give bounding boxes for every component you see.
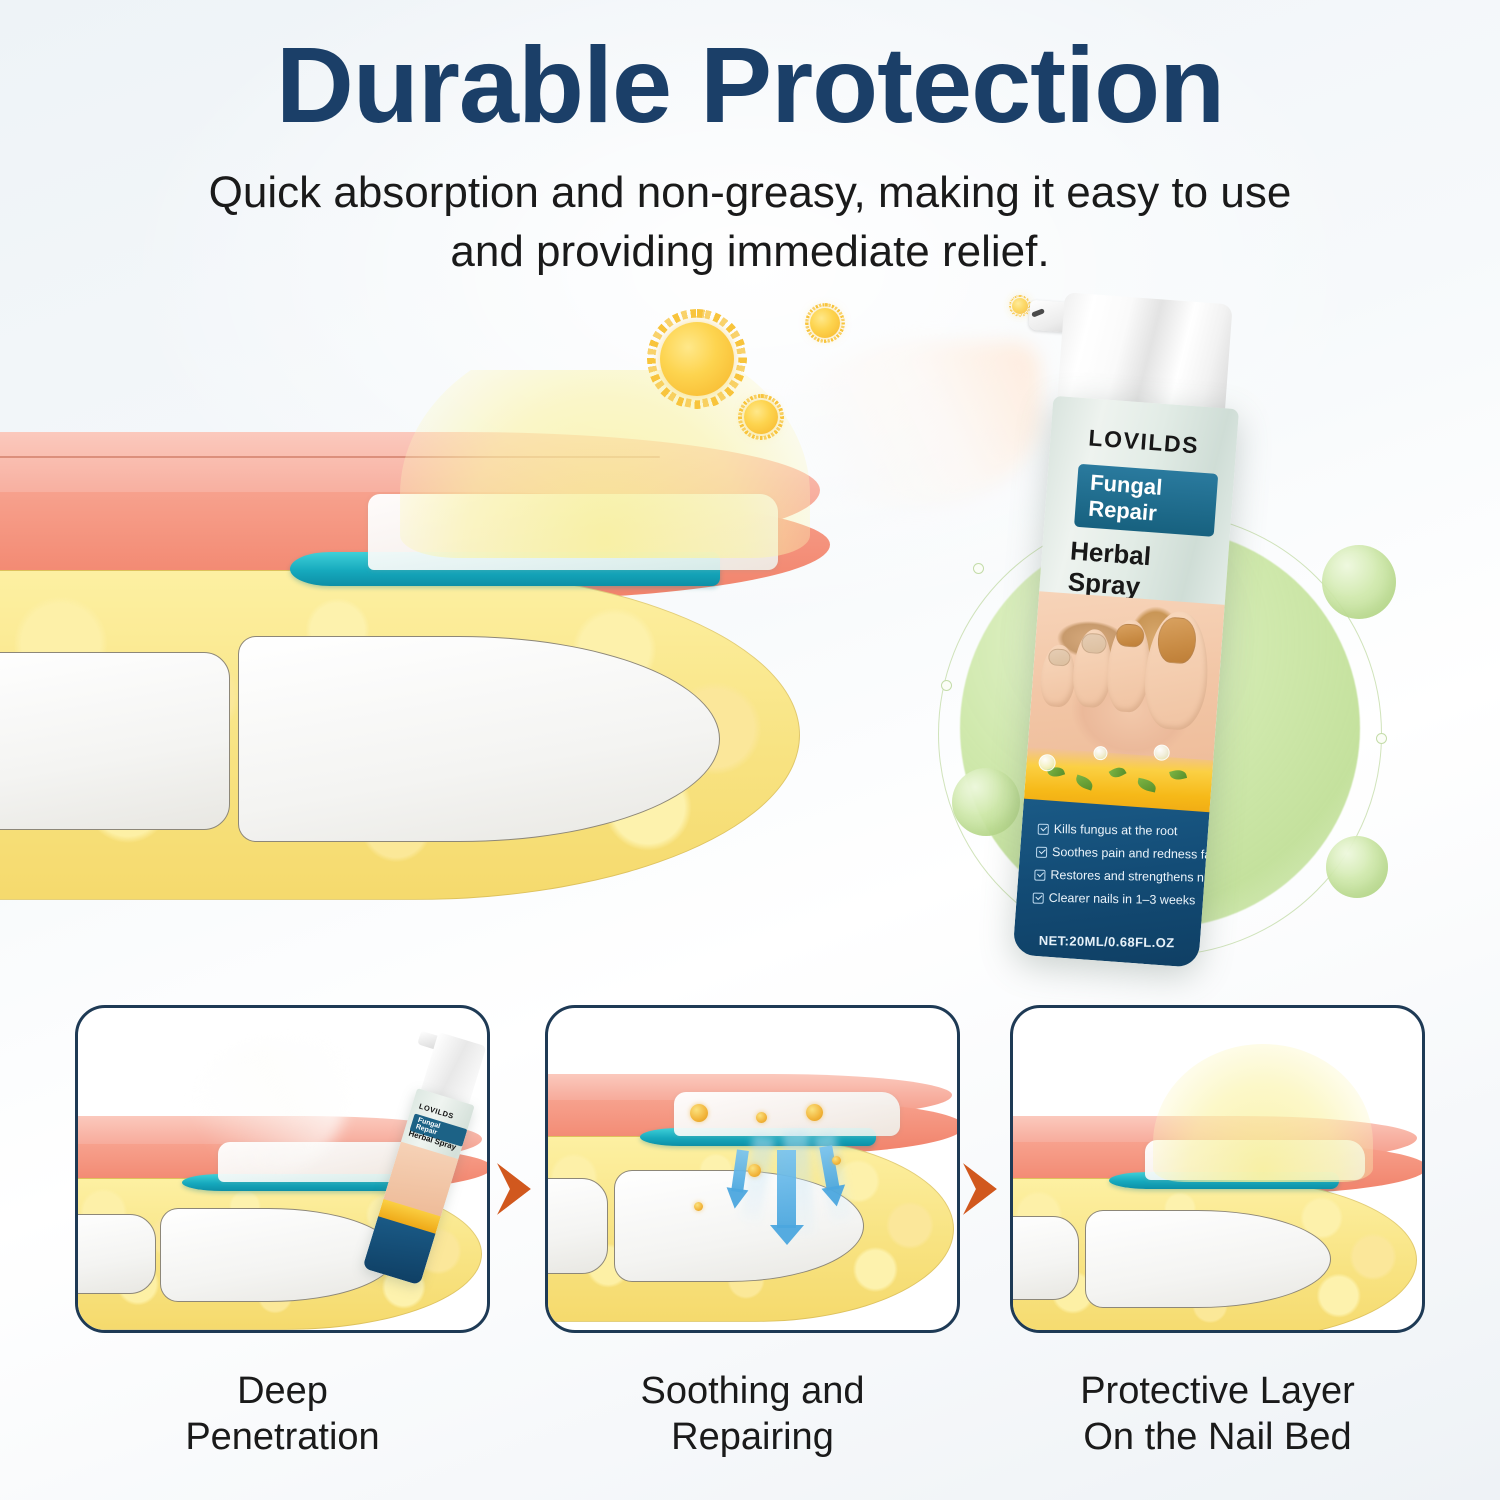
herbal-bubble [1153,744,1170,761]
active-particle [806,1104,823,1121]
gel-ring-node [973,563,984,574]
product-badge: Fungal Repair [1074,464,1218,537]
nail-cross-section-diagram [0,370,860,930]
proximal-phalanx-bone [545,1178,608,1274]
chevron-right-icon [963,1163,997,1215]
chevron-right-icon [497,1163,531,1215]
virus-icon [810,308,840,338]
active-particle [694,1202,703,1211]
benefit-list: Kills fungus at the root Soothes pain an… [1032,822,1194,916]
virus-icon [1012,298,1028,314]
herb-leaf-icon [1074,775,1095,791]
penetration-arrow-icon [777,1150,796,1228]
active-particle [756,1112,767,1123]
net-weight-label: NET:20ML/0.68FL.OZ [1014,932,1200,950]
spray-mist-icon [770,342,1040,508]
proximal-phalanx-bone [0,652,230,830]
brand-name: LOVILDS [1066,423,1222,461]
toenail [1048,648,1071,667]
active-particle [748,1164,761,1177]
benefit-item: Kills fungus at the root [1038,822,1194,839]
proximal-phalanx-bone [75,1214,156,1294]
gel-ring-node [1376,733,1387,744]
hero-illustration: LOVILDS Fungal Repair Herbal Spray [0,290,1500,990]
herb-leaf-icon [1169,768,1187,782]
step-panel-protective-layer[interactable] [1010,1005,1425,1333]
bottle-label-upper: LOVILDS Fungal Repair Herbal Spray [1039,422,1237,609]
active-particle [690,1104,708,1122]
bottle-label-lower: Kills fungus at the root Soothes pain an… [1013,799,1210,968]
benefit-item: Restores and strengthens nails [1034,868,1190,885]
proximal-phalanx-bone [1010,1216,1079,1300]
step-caption-deep-penetration: DeepPenetration [75,1368,490,1461]
benefit-item: Clearer nails in 1–3 weeks [1033,891,1189,908]
gel-bubble [1326,836,1388,898]
toenail-infected [1115,623,1145,648]
protective-barrier-dome [1153,1044,1373,1182]
step-caption-protective-layer: Protective LayerOn the Nail Bed [1000,1368,1435,1461]
herbal-bubble [1093,746,1108,761]
steps-section: LOVILDS Fungal Repair Herbal Spray [0,1000,1500,1500]
herb-leaf-icon [1136,778,1157,793]
step-panel-deep-penetration[interactable]: LOVILDS Fungal Repair Herbal Spray [75,1005,490,1333]
herb-leaf-icon [1109,764,1127,780]
active-particle [832,1156,841,1165]
step-caption-soothing-repairing: Soothing andRepairing [545,1368,960,1461]
header-block: Durable Protection Quick absorption and … [0,0,1500,281]
page-title: Durable Protection [0,28,1500,142]
gel-bubble [1322,545,1396,619]
benefit-item: Soothes pain and redness fast [1036,845,1192,862]
gel-ring-node [941,680,952,691]
page-subtitle: Quick absorption and non-greasy, making … [180,164,1320,280]
virus-icon [660,322,734,396]
bottle-body: LOVILDS Fungal Repair Herbal Spray [1013,396,1240,968]
toenail [1081,632,1107,654]
step-panel-soothing-repairing[interactable] [545,1005,960,1333]
